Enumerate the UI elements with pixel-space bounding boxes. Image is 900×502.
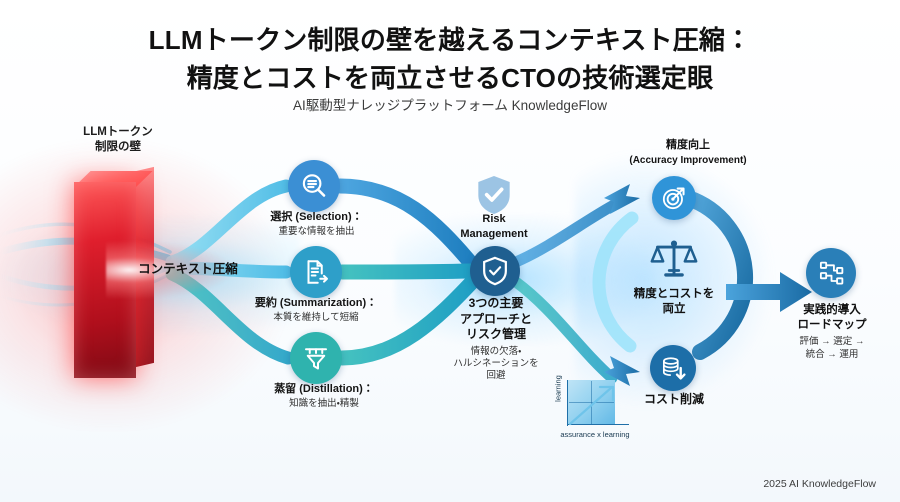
- risk-management-label: Risk Management: [438, 212, 550, 242]
- wall-label: LLMトークン 制限の壁: [58, 125, 178, 154]
- hub-label: 3つの主要 アプローチと リスク管理 情報の欠落・ ハルシネーションを 回避: [420, 296, 572, 383]
- accuracy-label-line-2: (Accuracy Improvement): [629, 155, 746, 166]
- risk-management-line-2: Management: [460, 228, 527, 240]
- balance-scales-icon: [648, 239, 700, 283]
- approach-title-distillation: 蒸留 (Distillation)：: [274, 383, 374, 395]
- risk-management-line-1: Risk: [482, 213, 505, 225]
- balance-label-line-2: 両立: [663, 303, 686, 315]
- magnifier-search-icon: [299, 171, 329, 201]
- hub-title-line-2: アプローチと: [460, 312, 532, 326]
- page-title: LLMトークン制限の壁を越えるコンテキスト圧縮： 精度とコストを両立させるCTO…: [0, 24, 900, 96]
- roadmap-sub-line-2: 統合 → 運用: [806, 349, 859, 360]
- shield-check-icon: [474, 173, 514, 217]
- roadmap-sub-line-1: 評価 → 選定 →: [800, 336, 865, 347]
- chart-x-axis-label: assurance x learning: [545, 430, 645, 439]
- hub-sub-line-1: 情報の欠落・: [471, 346, 522, 357]
- approach-subtitle-selection: 重要な情報を抽出: [244, 226, 389, 238]
- accuracy-label-line-1: 精度向上: [666, 139, 710, 151]
- chart-trend-arrow-icon: [567, 380, 629, 428]
- balance-label-line-1: 精度とコストを: [634, 288, 715, 300]
- approach-title-summarization: 要約 (Summarization)：: [255, 297, 377, 309]
- database-down-arrow-icon: [660, 355, 687, 382]
- hub-title-line-1: 3つの主要: [469, 296, 524, 310]
- approach-subtitle-distillation: 知識を抽出・精製: [248, 398, 400, 410]
- accuracy-improvement-label: 精度向上 (Accuracy Improvement): [598, 138, 778, 168]
- target-arrow-icon: [661, 185, 687, 211]
- balance-label: 精度とコストを 両立: [612, 287, 736, 317]
- hub-node-risk-management[interactable]: [470, 246, 520, 296]
- hub-sub-line-3: 回避: [486, 370, 505, 381]
- funnel-distill-icon: [301, 343, 331, 373]
- title-line-1: LLMトークン制限の壁を越えるコンテキスト圧縮：: [149, 25, 752, 55]
- page-subtitle: AI駆動型ナレッジプラットフォーム KnowledgeFlow: [0, 97, 900, 114]
- ribbon-summarization-to-hub: [342, 271, 470, 272]
- document-extract-icon: [301, 257, 331, 287]
- wall-label-line-2: 制限の壁: [95, 141, 141, 153]
- roadmap-node[interactable]: [806, 248, 856, 298]
- hub-sub-line-2: ハルシネーションを: [453, 358, 538, 369]
- cycle-node-accuracy[interactable]: [652, 176, 696, 220]
- assurance-learning-chart: learning assurance x learning: [545, 378, 645, 444]
- title-line-2: 精度とコストを両立させるCTOの技術選定眼: [0, 62, 900, 95]
- approach-node-distillation[interactable]: [290, 332, 342, 384]
- approach-label-distillation: 蒸留 (Distillation)： 知識を抽出・精製: [248, 382, 400, 410]
- approach-label-summarization: 要約 (Summarization)： 本質を維持して短縮: [230, 296, 402, 324]
- cycle-node-cost[interactable]: [650, 345, 696, 391]
- approach-subtitle-summarization: 本質を維持して短縮: [230, 312, 402, 324]
- footer-credit: 2025 AI KnowledgeFlow: [763, 478, 876, 490]
- context-compression-label: コンテキスト圧縮: [118, 261, 258, 277]
- chart-y-axis-label: learning: [554, 367, 563, 411]
- hub-title-line-3: リスク管理: [466, 327, 526, 341]
- shield-check-icon: [481, 256, 509, 286]
- wall-label-line-1: LLMトークン: [83, 126, 153, 138]
- roadmap-title-line-1: 実践的導入: [803, 304, 861, 316]
- balance-icon-wrap: [646, 238, 702, 284]
- roadmap-title-line-2: ロードマップ: [798, 319, 867, 331]
- approach-node-summarization[interactable]: [290, 246, 342, 298]
- infographic-canvas: LLMトークン制限の壁を越えるコンテキスト圧縮： 精度とコストを両立させるCTO…: [0, 0, 900, 502]
- approach-label-selection: 選択 (Selection)： 重要な情報を抽出: [244, 210, 389, 238]
- approach-node-selection[interactable]: [288, 160, 340, 212]
- flowchart-nodes-icon: [817, 259, 846, 288]
- approach-title-selection: 選択 (Selection)：: [270, 211, 362, 223]
- roadmap-label: 実践的導入 ロードマップ 評価 → 選定 → 統合 → 運用: [770, 303, 894, 362]
